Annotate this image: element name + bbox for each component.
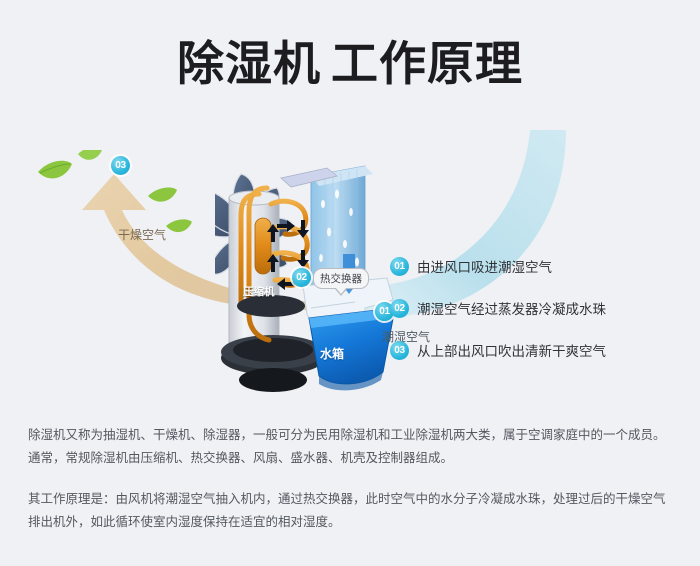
- steps-legend: 01 由进风口吸进潮湿空气 02 潮湿空气经过蒸发器冷凝成水珠 03 从上部出风…: [390, 256, 690, 382]
- leaf-icon-1: [38, 161, 72, 179]
- leaf-icon-3: [148, 188, 177, 202]
- legend-text-01: 由进风口吸进潮湿空气: [417, 256, 552, 276]
- infographic-page: 除湿机工作原理: [0, 0, 700, 566]
- title-part-1: 除湿机: [177, 37, 321, 90]
- legend-text-03: 从上部出风口吹出清新干爽空气: [417, 340, 606, 360]
- paragraph-1-line-2: 通常，常规除湿机由压缩机、热交换器、风扇、盛水器、机壳及控制器组成。: [28, 447, 678, 470]
- paragraph-2-line-1: 其工作原理是：由风机将潮湿空气抽入机内，通过热交换器，此时空气中的水分子冷凝成水…: [28, 488, 678, 511]
- paragraph-1-line-1: 除湿机又称为抽湿机、干燥机、除湿器，一般可分为民用除湿机和工业除湿机两大类，属于…: [28, 424, 678, 447]
- badge-heat-exchanger: 02: [292, 268, 311, 287]
- title-part-2: 工作原理: [331, 37, 523, 90]
- legend-text-02: 潮湿空气经过蒸发器冷凝成水珠: [417, 298, 606, 318]
- heat-exchanger-callout: 热交换器: [313, 268, 369, 289]
- legend-badge-03: 03: [390, 341, 409, 360]
- dehumidifier-unit-illustration: [215, 158, 405, 408]
- dry-air-label: 干燥空气: [118, 226, 166, 243]
- paragraph-1: 除湿机又称为抽湿机、干燥机、除湿器，一般可分为民用除湿机和工业除湿机两大类，属于…: [28, 424, 678, 470]
- legend-badge-01: 01: [390, 257, 409, 276]
- badge-dry-air: 03: [111, 156, 130, 175]
- paragraph-2-line-2: 排出机外，如此循环使室内湿度保持在适宜的相对湿度。: [28, 511, 678, 534]
- legend-item-3: 03 从上部出风口吹出清新干爽空气: [390, 340, 690, 360]
- paragraph-2: 其工作原理是：由风机将潮湿空气抽入机内，通过热交换器，此时空气中的水分子冷凝成水…: [28, 488, 678, 534]
- water-tank-label: 水箱: [320, 345, 344, 362]
- compressor-label: 压缩机: [243, 284, 275, 299]
- legend-badge-02: 02: [390, 299, 409, 318]
- leaf-icon-2: [78, 150, 102, 160]
- legend-item-1: 01 由进风口吸进潮湿空气: [390, 256, 690, 276]
- legend-item-2: 02 潮湿空气经过蒸发器冷凝成水珠: [390, 298, 690, 318]
- compressor-cylinder: [255, 218, 271, 274]
- leaf-icon-4: [166, 219, 192, 232]
- page-title: 除湿机工作原理: [0, 36, 700, 92]
- body-copy: 除湿机又称为抽湿机、干燥机、除湿器，一般可分为民用除湿机和工业除湿机两大类，属于…: [28, 424, 678, 552]
